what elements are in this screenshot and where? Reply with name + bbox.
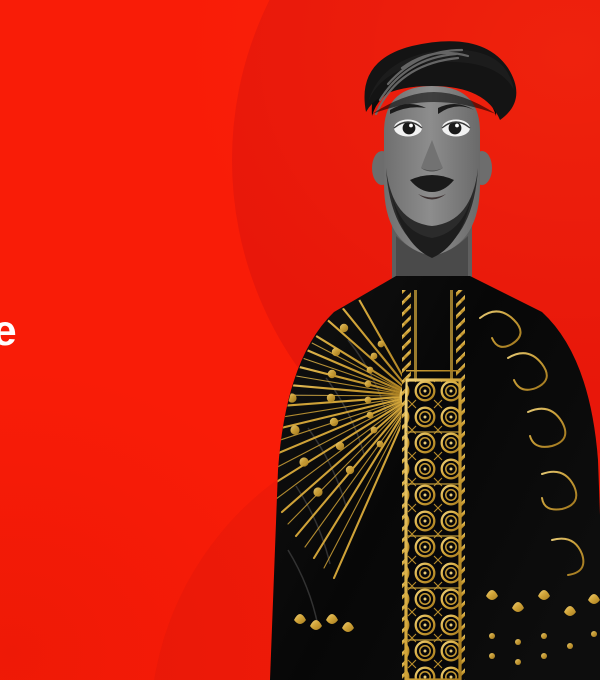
hero-banner: ION s More tion gns Are Alive <box>0 0 600 680</box>
hero-headline: s More tion <box>0 308 212 400</box>
hero-subcopy-line-1: gns Are <box>0 434 212 467</box>
agbada-man-illustration <box>256 40 600 680</box>
hero-subcopy-line-2: Alive <box>0 467 212 500</box>
hero-subcopy: gns Are Alive <box>0 434 212 499</box>
hero-eyebrow: ION <box>0 286 212 302</box>
hero-headline-line-2: tion <box>0 354 212 400</box>
hero-copy-block: ION s More tion gns Are Alive <box>0 286 212 499</box>
hero-headline-line-1: s More <box>0 308 212 354</box>
